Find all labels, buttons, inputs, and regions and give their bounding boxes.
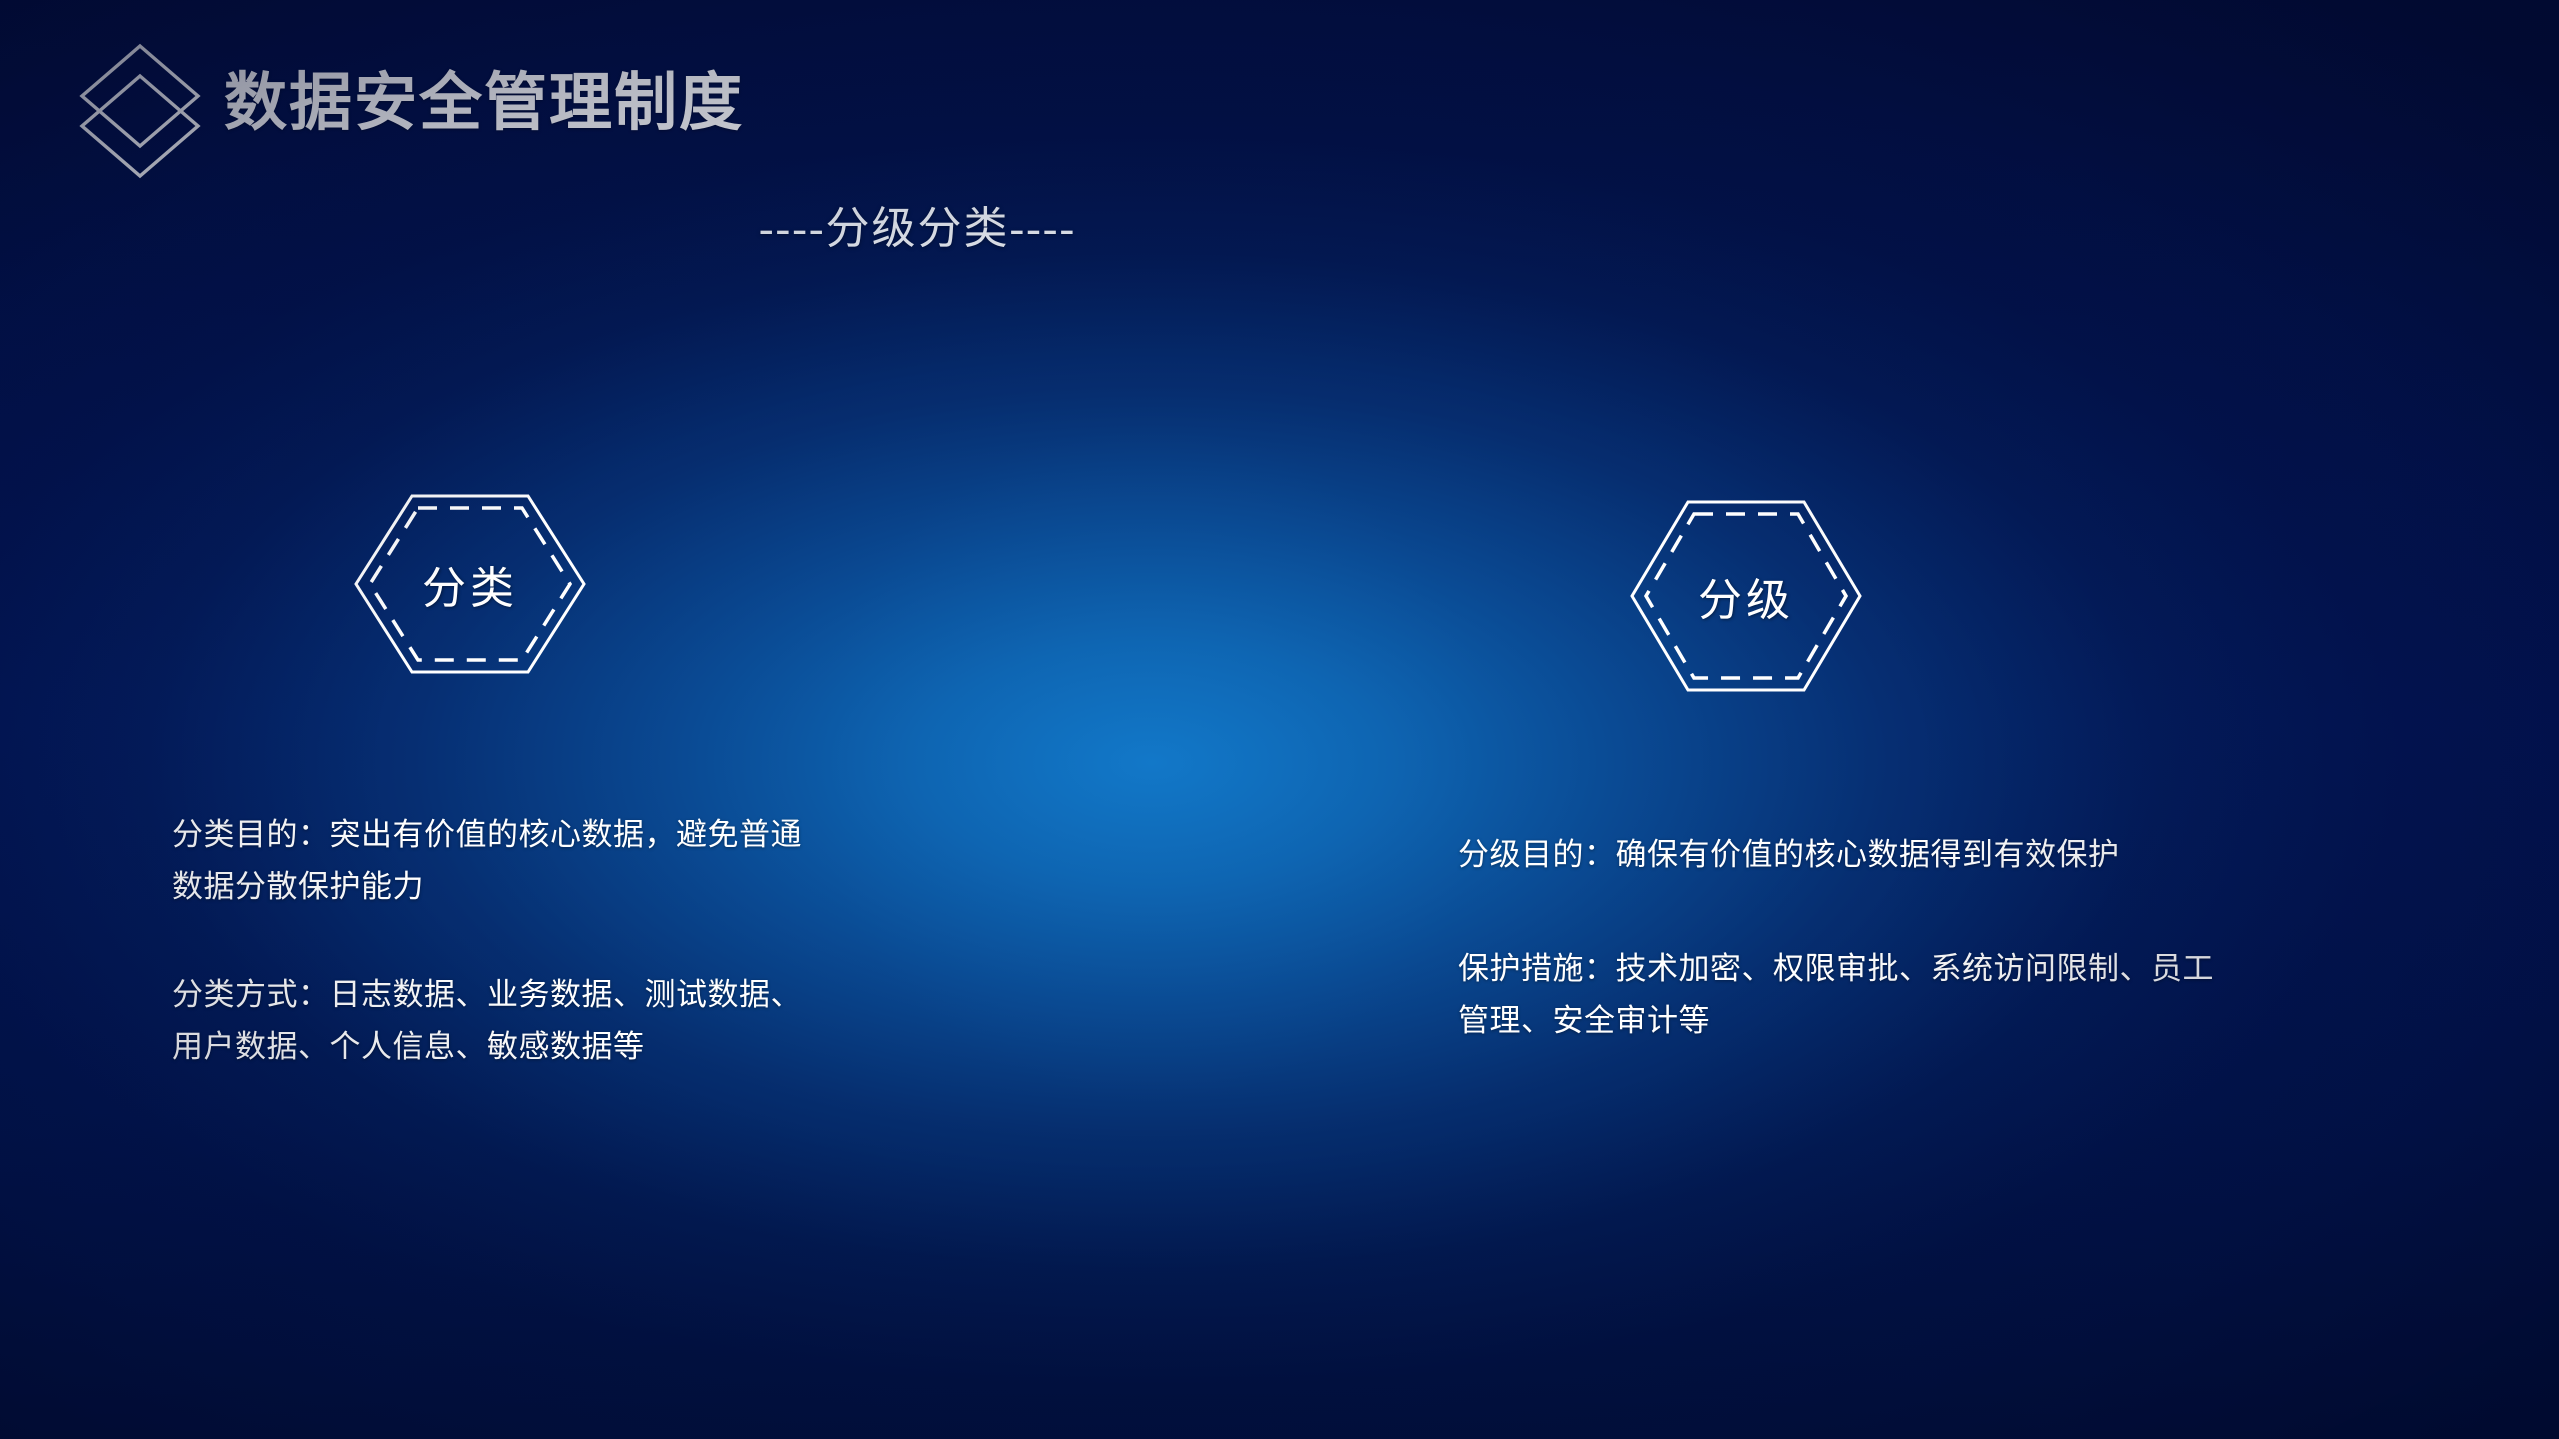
badge-classification[interactable]: 分类: [354, 494, 586, 674]
classification-method-text: 分类方式：日志数据、业务数据、测试数据、用户数据、个人信息、敏感数据等: [172, 969, 812, 1073]
classification-purpose-text: 分类目的：突出有价值的核心数据，避免普通数据分散保护能力: [172, 809, 812, 913]
text-column-grading: 分级目的：确保有价值的核心数据得到有效保护 保护措施：技术加密、权限审批、系统访…: [1458, 798, 2218, 1078]
badge-grading-label: 分级: [1630, 500, 1862, 692]
badge-grading[interactable]: 分级: [1630, 500, 1862, 692]
grading-measures-text: 保护措施：技术加密、权限审批、系统访问限制、员工管理、安全审计等: [1458, 943, 2218, 1047]
grading-purpose-text: 分级目的：确保有价值的核心数据得到有效保护: [1458, 829, 2218, 881]
slide-canvas: 数据安全管理制度 ----分级分类---- 分类 分级 分类目的：突出有价值的核…: [0, 0, 2559, 1439]
page-subtitle: ----分级分类----: [0, 192, 1835, 256]
badge-classification-label: 分类: [354, 494, 586, 674]
overlapping-diamonds-logo-icon: [78, 40, 202, 182]
text-column-classification: 分类目的：突出有价值的核心数据，避免普通数据分散保护能力 分类方式：日志数据、业…: [172, 778, 812, 1104]
page-title: 数据安全管理制度: [224, 52, 744, 143]
